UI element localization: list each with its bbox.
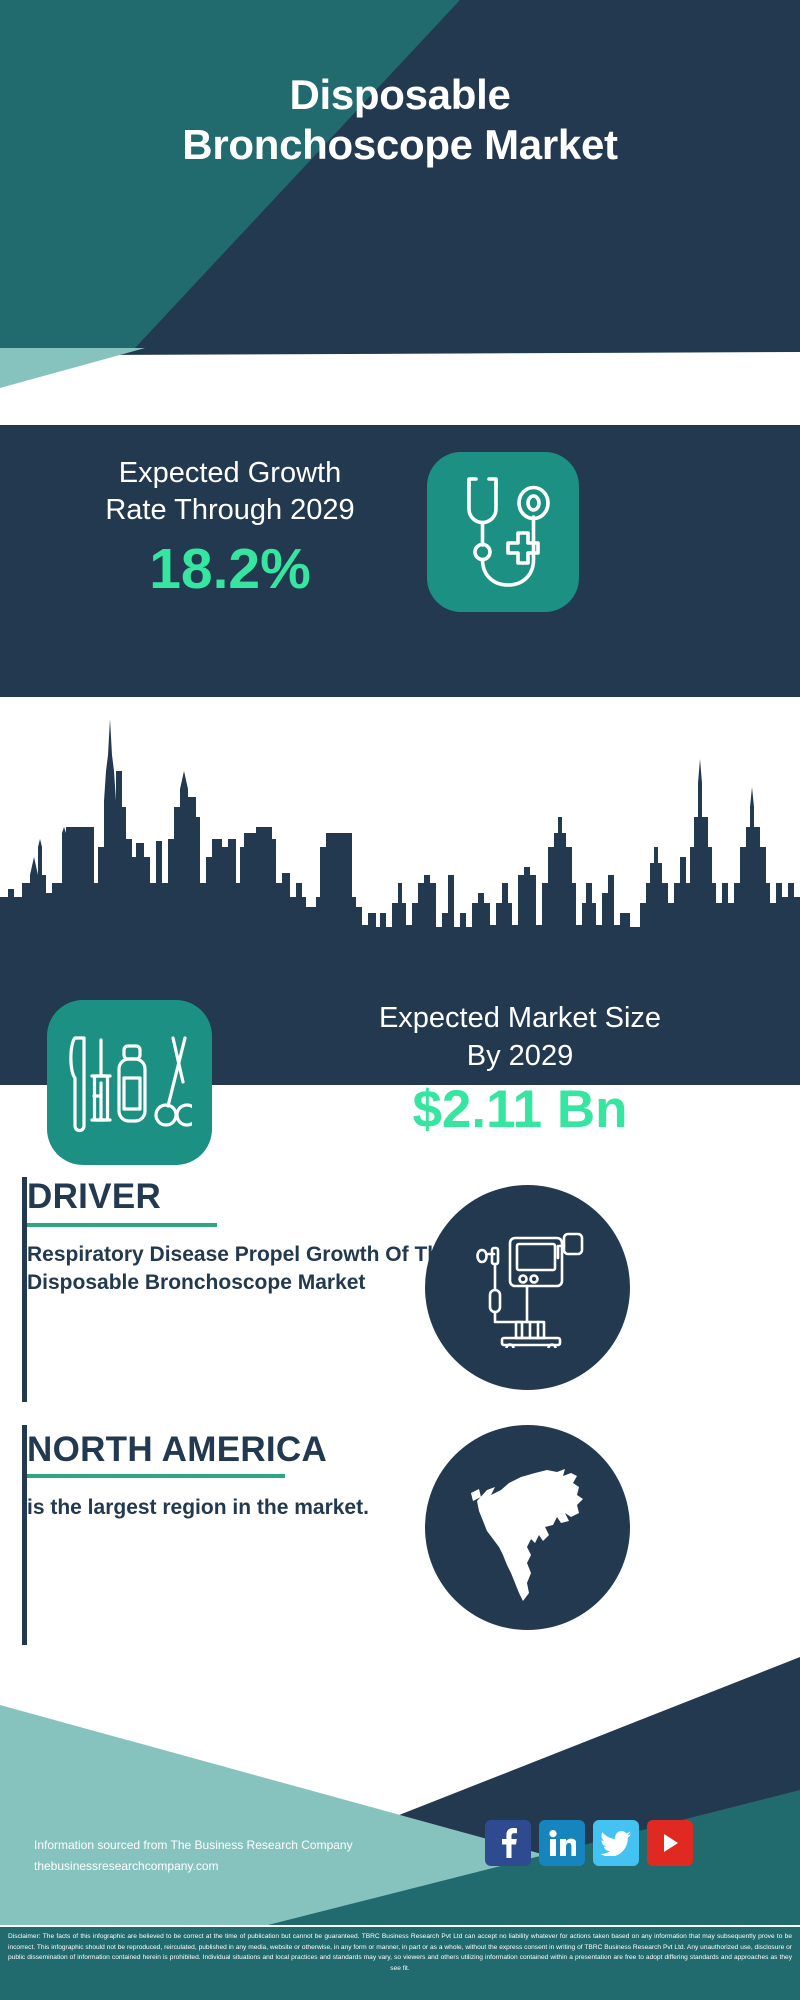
- growth-rate-value: 18.2%: [20, 541, 440, 598]
- facebook-button[interactable]: [485, 1820, 531, 1866]
- header-diagonal-shape: [0, 0, 800, 348]
- social-links: [485, 1820, 693, 1866]
- growth-rate-text: Expected Growth Rate Through 2029 18.2%: [20, 455, 440, 598]
- disclaimer-text: Disclaimer: The facts of this infographi…: [0, 1925, 800, 1975]
- disclaimer-top-rule: [0, 1925, 800, 1927]
- footer-section: Information sourced from The Business Re…: [0, 1645, 800, 1925]
- navy-wedge: [110, 348, 800, 355]
- youtube-icon: [657, 1830, 683, 1856]
- driver-body: Respiratory Disease Propel Growth Of The…: [27, 1241, 457, 1297]
- driver-title: DRIVER: [27, 1177, 457, 1217]
- twitter-button[interactable]: [593, 1820, 639, 1866]
- region-rule: [27, 1474, 285, 1478]
- infographic-page: Disposable Bronchoscope Market Expected …: [0, 0, 800, 2000]
- market-size-label-line2: By 2029: [240, 1038, 800, 1076]
- market-size-text: Expected Market Size By 2029 $2.11 Bn: [240, 1000, 800, 1136]
- header-banner: Disposable Bronchoscope Market: [0, 0, 800, 348]
- twitter-icon: [601, 1831, 631, 1856]
- disclaimer-section: Disclaimer: The facts of this infographi…: [0, 1925, 800, 2000]
- region-body: is the largest region in the market.: [27, 1494, 457, 1522]
- ventilator-icon: [472, 1228, 584, 1348]
- header-wedge-band: [0, 348, 800, 388]
- page-title: Disposable Bronchoscope Market: [0, 70, 800, 169]
- north-america-map-icon: [465, 1443, 590, 1613]
- content-section: DRIVER Respiratory Disease Propel Growth…: [0, 1085, 800, 1645]
- medical-tools-icon: [67, 1030, 192, 1135]
- linkedin-button[interactable]: [539, 1820, 585, 1866]
- growth-rate-label-line1: Expected Growth: [20, 455, 440, 492]
- region-block: NORTH AMERICA is the largest region in t…: [27, 1430, 457, 1522]
- region-title: NORTH AMERICA: [27, 1430, 457, 1470]
- footer-source-line1: Information sourced from The Business Re…: [34, 1835, 353, 1856]
- growth-rate-section: Expected Growth Rate Through 2029 18.2%: [0, 425, 800, 697]
- market-size-value: $2.11 Bn: [240, 1083, 800, 1136]
- linkedin-icon: [548, 1830, 576, 1856]
- driver-rule: [27, 1223, 217, 1227]
- footer-source-line2[interactable]: thebusinessresearchcompany.com: [34, 1856, 353, 1877]
- page-title-line2: Bronchoscope Market: [0, 120, 800, 170]
- north-america-icon-circle: [425, 1425, 630, 1630]
- footer-source-text: Information sourced from The Business Re…: [34, 1835, 353, 1877]
- youtube-button[interactable]: [647, 1820, 693, 1866]
- driver-block: DRIVER Respiratory Disease Propel Growth…: [27, 1177, 457, 1297]
- stethoscope-icon-tile: [427, 452, 579, 612]
- market-size-label-line1: Expected Market Size: [240, 1000, 800, 1038]
- ventilator-icon-circle: [425, 1185, 630, 1390]
- page-title-line1: Disposable: [0, 70, 800, 120]
- medical-tools-icon-tile: [47, 1000, 212, 1165]
- growth-rate-label-line2: Rate Through 2029: [20, 492, 440, 529]
- facebook-icon: [497, 1828, 519, 1858]
- growth-rate-label: Expected Growth Rate Through 2029: [20, 455, 440, 529]
- market-size-label: Expected Market Size By 2029: [240, 1000, 800, 1075]
- stethoscope-icon: [447, 471, 559, 593]
